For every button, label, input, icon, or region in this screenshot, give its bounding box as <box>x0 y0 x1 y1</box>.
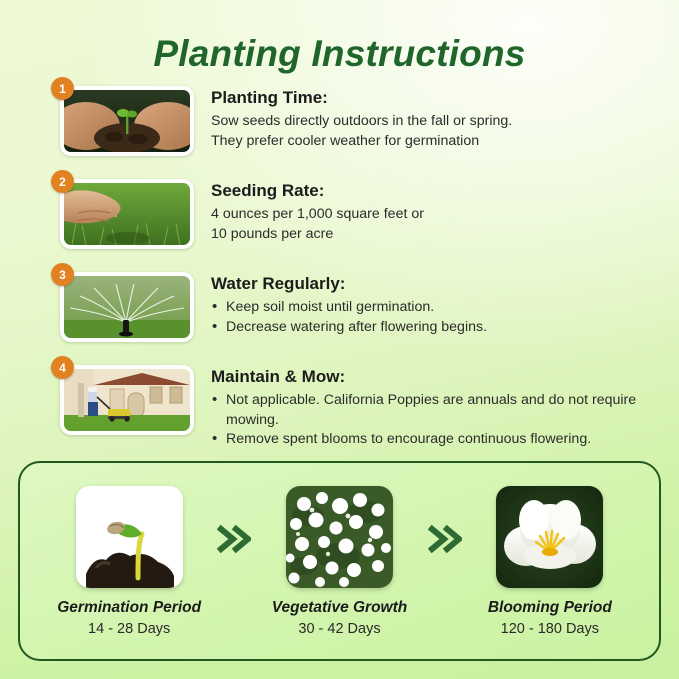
double-chevron-right-icon <box>423 524 467 554</box>
stage-1-days: 14 - 28 Days <box>88 621 170 637</box>
step-3-text: Water Regularly: Keep soil moist until g… <box>192 272 663 337</box>
step-4-image <box>60 365 194 435</box>
stage-2-label: Vegetative Growth <box>272 599 408 617</box>
hands-holding-seedling-in-soil-photo <box>64 90 190 152</box>
stage-3-image <box>496 486 603 588</box>
growth-timeline-panel: Germination Period 14 - 28 Days <box>18 461 661 661</box>
step-1-thumbnail-wrap: 1 <box>60 86 192 156</box>
instruction-step-4: 4 Maintain & Mow: Not applicable. Califo… <box>0 365 679 451</box>
stage-3-days: 120 - 180 Days <box>501 621 599 637</box>
instruction-step-2: 2 Seeding Rate: 4 ounces per 1,000 squar… <box>0 179 679 265</box>
person-mowing-lawn-by-house-photo <box>64 369 190 431</box>
lawn-sprinkler-watering-photo <box>64 276 190 338</box>
step-1-line-2: They prefer cooler weather for germinati… <box>211 132 663 152</box>
timeline-stage-germination: Germination Period 14 - 28 Days <box>46 486 212 637</box>
list-item: Remove spent blooms to encourage continu… <box>211 430 663 450</box>
step-4-title: Maintain & Mow: <box>211 366 663 388</box>
sprouting-seedling-in-dark-soil-photo <box>76 486 183 588</box>
list-item: Decrease watering after flowering begins… <box>211 318 663 338</box>
step-number-badge: 1 <box>51 77 74 100</box>
list-item: Keep soil moist until germination. <box>211 298 663 318</box>
instruction-step-3: 3 Water Regularly: Keep soil moist until… <box>0 272 679 358</box>
instruction-step-1: 1 Planting Time: Sow seeds directly outd… <box>0 86 679 172</box>
step-number-badge: 4 <box>51 356 74 379</box>
stage-2-days: 30 - 42 Days <box>298 621 380 637</box>
white-california-poppy-bloom-photo <box>496 486 603 588</box>
step-2-thumbnail-wrap: 2 <box>60 179 192 249</box>
step-2-image <box>60 179 194 249</box>
step-3-title: Water Regularly: <box>211 273 663 295</box>
stage-1-label: Germination Period <box>57 599 201 617</box>
step-3-bullets: Keep soil moist until germination. Decre… <box>211 298 663 337</box>
hand-spreading-seed-over-grass-photo <box>64 183 190 245</box>
step-2-title: Seeding Rate: <box>211 180 663 202</box>
step-3-thumbnail-wrap: 3 <box>60 272 192 342</box>
stage-3-label: Blooming Period <box>488 599 612 617</box>
page-title: Planting Instructions <box>0 32 679 76</box>
timeline-stage-vegetative: Vegetative Growth 30 - 42 Days <box>256 486 422 637</box>
stage-1-image <box>76 486 183 588</box>
step-4-text: Maintain & Mow: Not applicable. Californ… <box>192 365 663 450</box>
step-4-bullets: Not applicable. California Poppies are a… <box>211 391 663 450</box>
stage-2-image <box>286 486 393 588</box>
step-number-badge: 3 <box>51 263 74 286</box>
step-1-text: Planting Time: Sow seeds directly outdoo… <box>192 86 663 151</box>
step-3-image <box>60 272 194 342</box>
planting-instructions-infographic: Planting Instructions <box>0 0 679 679</box>
cluster-of-small-white-flowers-photo <box>286 486 393 588</box>
instruction-steps-list: 1 Planting Time: Sow seeds directly outd… <box>0 86 679 451</box>
step-2-line-2: 10 pounds per acre <box>211 225 663 245</box>
list-item: Not applicable. California Poppies are a… <box>211 391 663 430</box>
step-4-thumbnail-wrap: 4 <box>60 365 192 435</box>
step-2-text: Seeding Rate: 4 ounces per 1,000 square … <box>192 179 663 244</box>
step-1-title: Planting Time: <box>211 87 663 109</box>
timeline-stage-blooming: Blooming Period 120 - 180 Days <box>467 486 633 637</box>
step-2-line-1: 4 ounces per 1,000 square feet or <box>211 205 663 225</box>
step-number-badge: 2 <box>51 170 74 193</box>
step-1-image <box>60 86 194 156</box>
step-1-line-1: Sow seeds directly outdoors in the fall … <box>211 112 663 132</box>
double-chevron-right-icon <box>212 524 256 554</box>
